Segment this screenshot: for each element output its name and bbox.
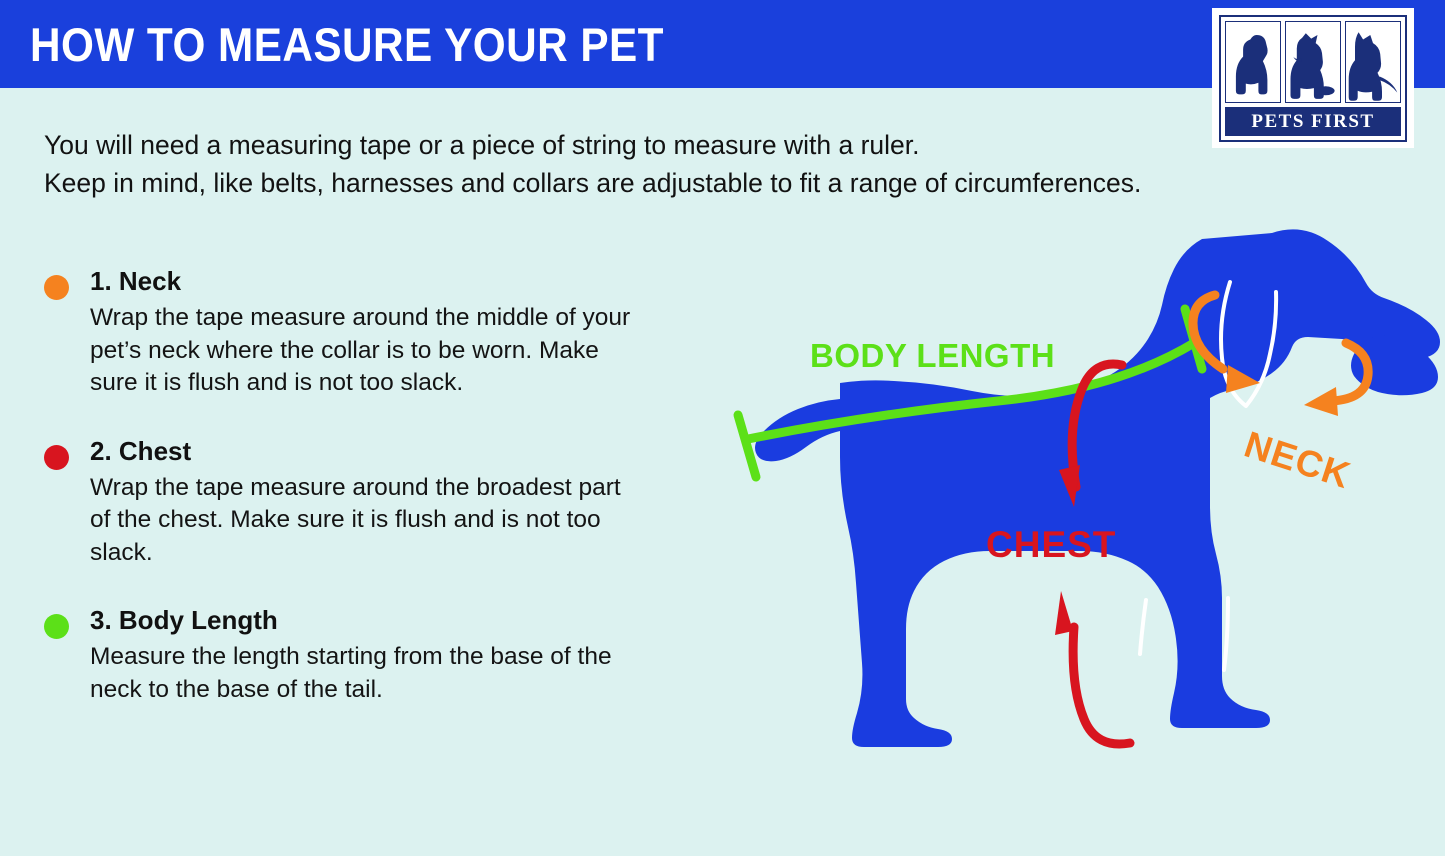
page-title: HOW TO MEASURE YOUR PET [30,14,664,76]
chest-label: CHEST [986,524,1116,565]
brand-logo: PETS FIRST [1212,8,1414,148]
bullet-body-length-icon [44,614,69,639]
step-item-chest: 2. Chest Wrap the tape measure around th… [44,432,644,570]
body-length-label: BODY LENGTH [810,337,1055,374]
step-item-body-length: 3. Body Length Measure the length starti… [44,601,644,706]
neck-label: NECK [1240,424,1356,497]
howling-dog-silhouette-icon [1285,21,1341,103]
intro-paragraph: You will need a measuring tape or a piec… [44,126,1204,202]
rear-front-leg-separation-line [1140,600,1146,654]
intro-line-2: Keep in mind, like belts, harnesses and … [44,164,1204,202]
step-title-chest: 2. Chest [90,432,644,470]
step-description-chest: Wrap the tape measure around the broades… [90,472,644,570]
measurement-steps-list: 1. Neck Wrap the tape measure around the… [44,262,644,738]
dog-measurement-diagram: BODY LENGTH NECK CHEST [630,215,1445,856]
step-description-body-length: Measure the length starting from the bas… [90,641,644,706]
step-item-neck: 1. Neck Wrap the tape measure around the… [44,262,644,400]
step-title-body-length: 3. Body Length [90,601,644,639]
intro-line-1: You will need a measuring tape or a piec… [44,126,1204,164]
bullet-chest-icon [44,445,69,470]
sitting-dog-silhouette-icon [1225,21,1281,103]
shepherd-dog-silhouette-icon [1345,21,1401,103]
step-description-neck: Wrap the tape measure around the middle … [90,302,644,400]
logo-icon-row [1225,21,1401,103]
chest-arrow-up-head [1055,591,1073,635]
logo-frame: PETS FIRST [1219,15,1407,142]
step-title-neck: 1. Neck [90,262,644,300]
logo-wordmark: PETS FIRST [1225,107,1401,136]
neck-arrow-right-head [1304,387,1338,416]
bullet-neck-icon [44,275,69,300]
front-leg-separation-line [1224,598,1228,670]
